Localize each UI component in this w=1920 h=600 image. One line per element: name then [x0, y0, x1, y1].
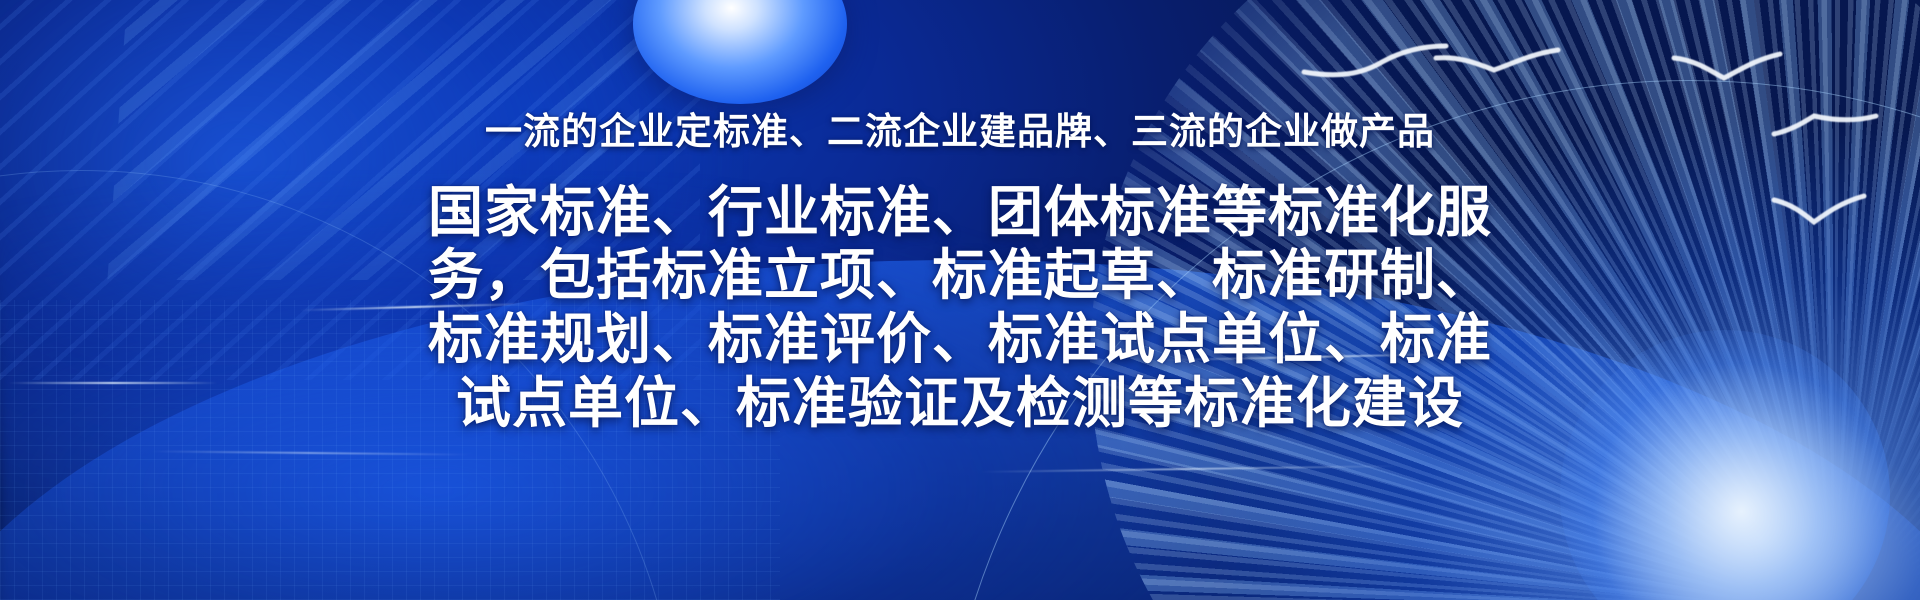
page-title: 一流的企业定标准、二流企业建品牌、三流的企业做产品: [485, 112, 1435, 153]
banner-description-line: 国家标准、行业标准、团体标准等标准化服: [325, 181, 1595, 245]
banner-content: 一流的企业定标准、二流企业建品牌、三流的企业做产品 国家标准、行业标准、团体标准…: [0, 0, 1920, 600]
banner-description-line: 标准规划、标准评价、标准试点单位、标准: [325, 308, 1595, 372]
banner-description-line: 务，包括标准立项、标准起草、标准研制、: [325, 244, 1595, 308]
promo-banner: 一流的企业定标准、二流企业建品牌、三流的企业做产品 国家标准、行业标准、团体标准…: [0, 0, 1920, 600]
banner-description-line: 试点单位、标准验证及检测等标准化建设: [325, 372, 1595, 436]
banner-description: 国家标准、行业标准、团体标准等标准化服 务，包括标准立项、标准起草、标准研制、 …: [325, 181, 1595, 436]
